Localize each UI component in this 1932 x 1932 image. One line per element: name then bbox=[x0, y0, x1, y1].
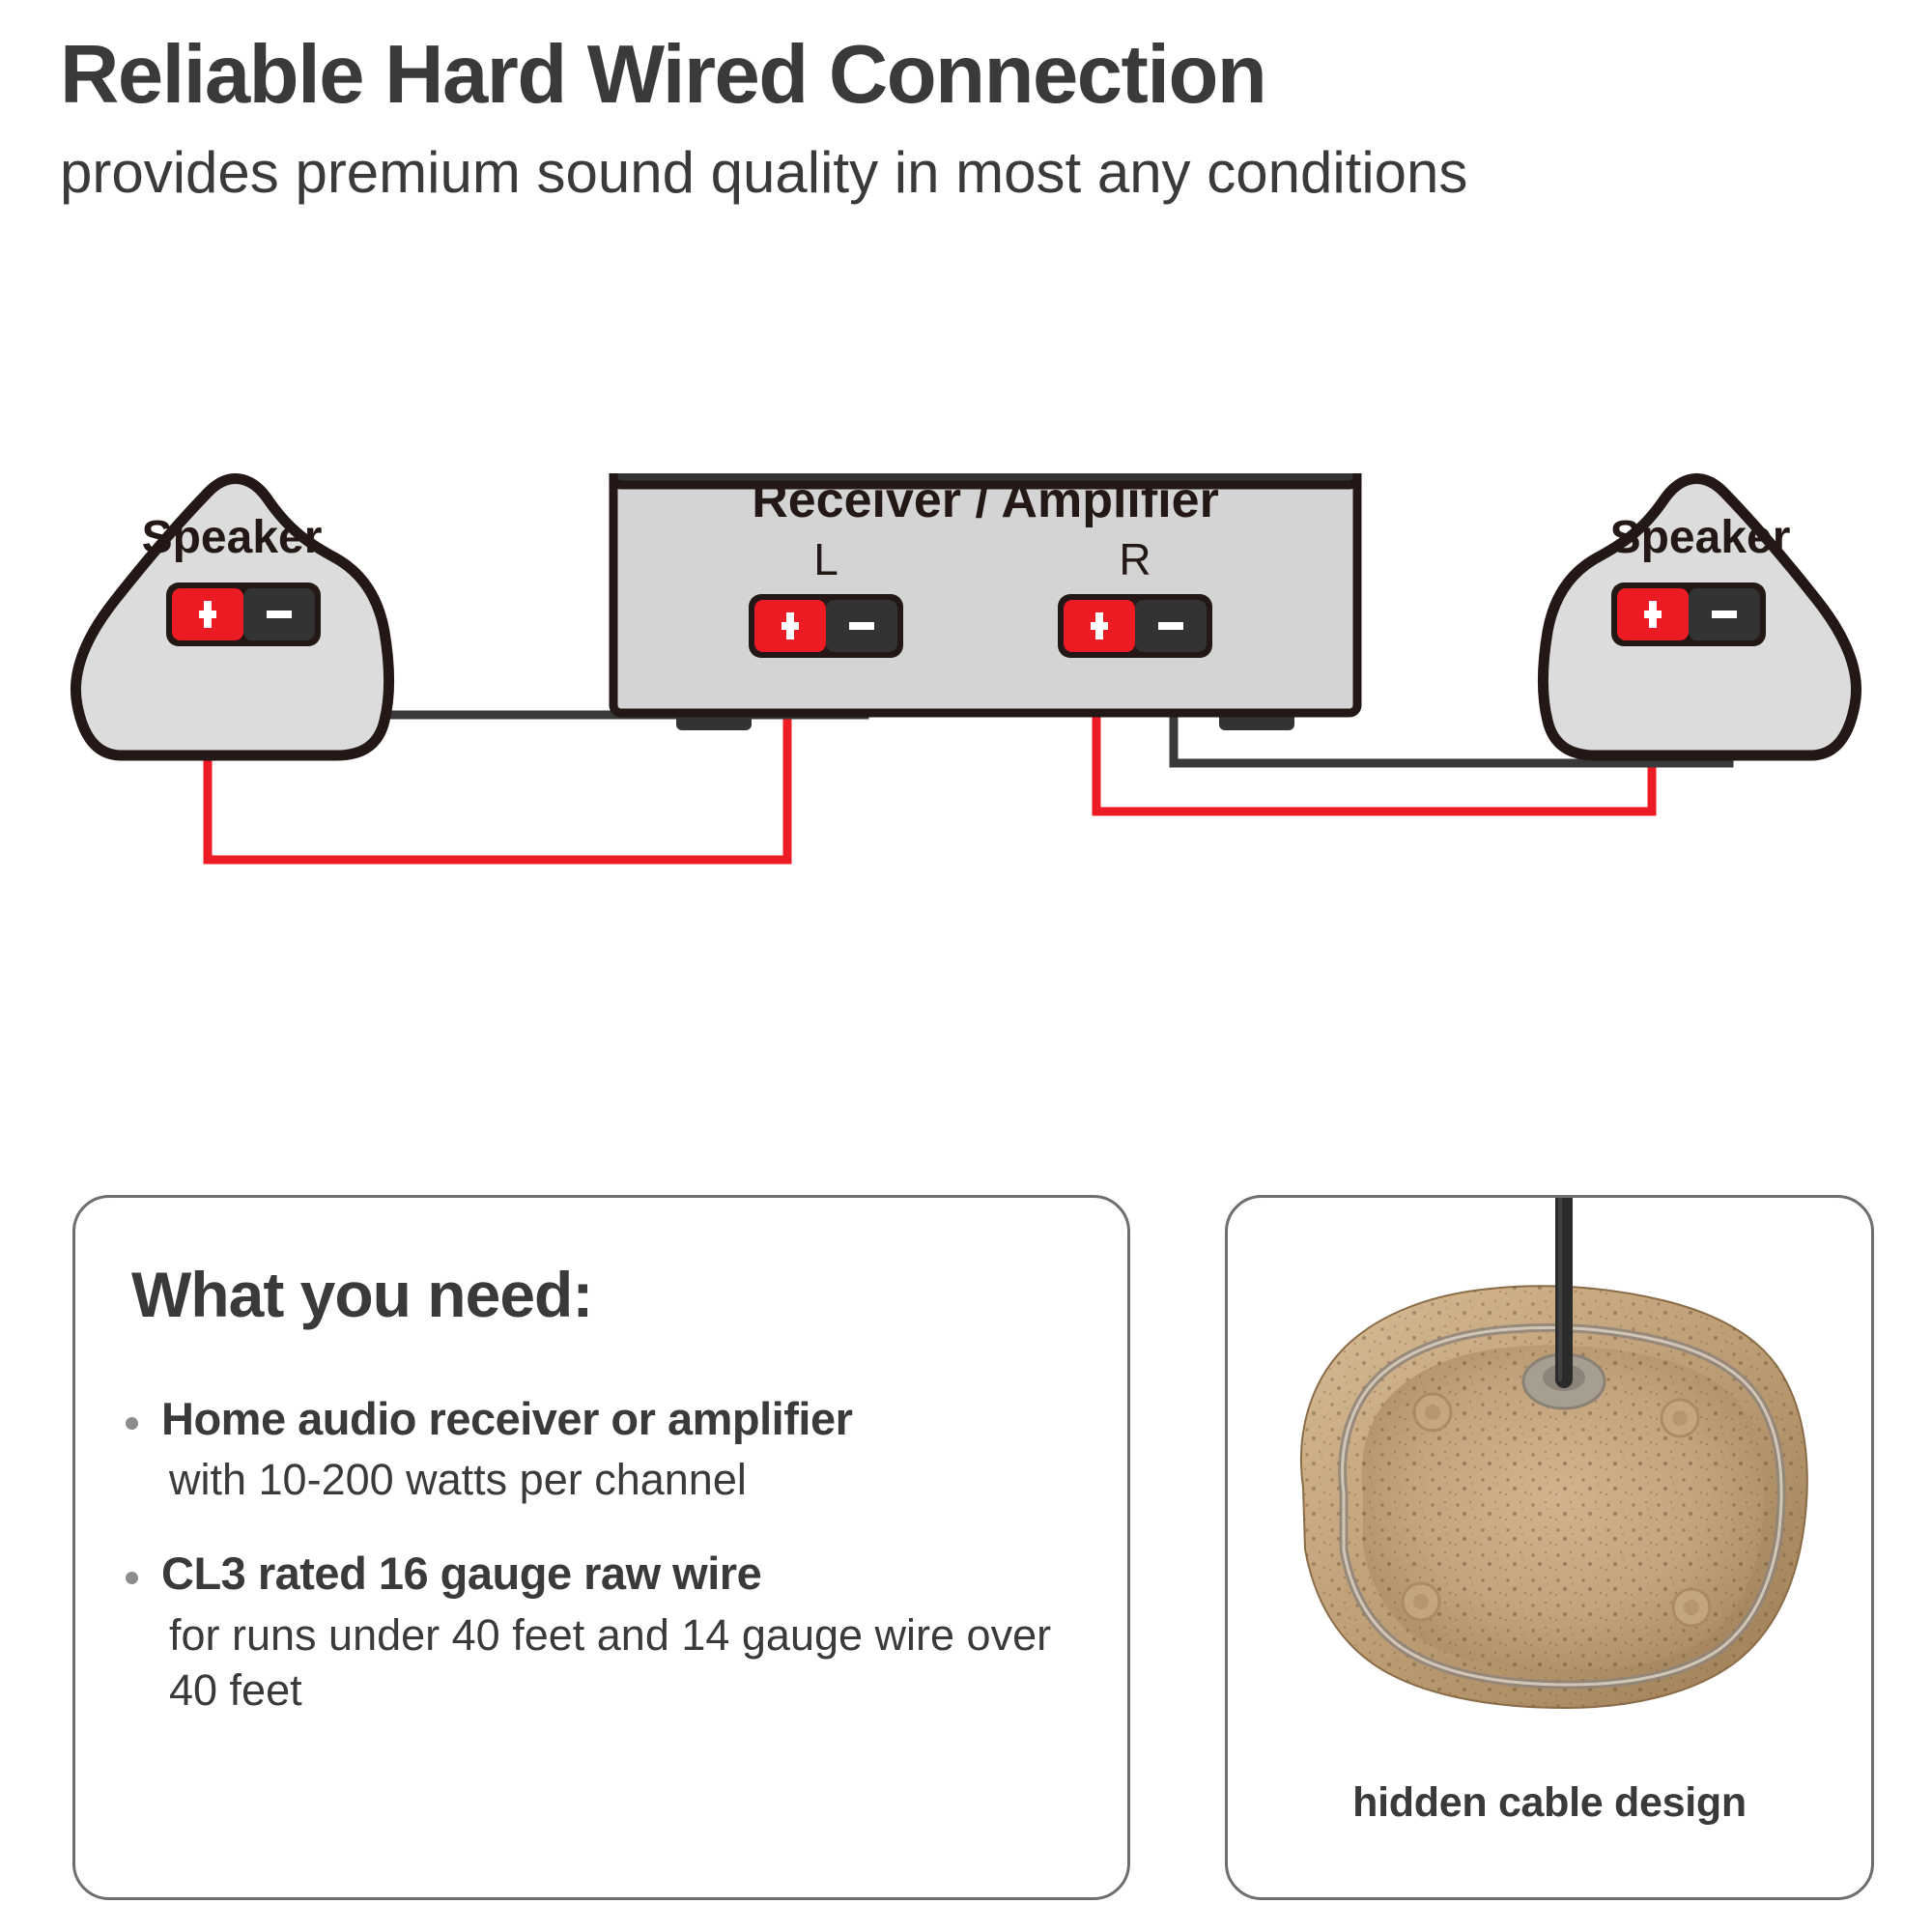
boss-top-right-center bbox=[1672, 1410, 1688, 1426]
list-item-sub: with 10-200 watts per channel bbox=[169, 1452, 1089, 1507]
boss-bottom-left-center bbox=[1413, 1594, 1429, 1609]
infographic-page: Reliable Hard Wired Connection provides … bbox=[0, 0, 1932, 1932]
bottom-cards: What you need: Home audio receiver or am… bbox=[0, 1183, 1932, 1898]
list-item: CL3 rated 16 gauge raw wire for runs und… bbox=[126, 1546, 1089, 1718]
list-item-lead: Home audio receiver or amplifier bbox=[161, 1391, 1089, 1446]
requirements-list: Home audio receiver or amplifier with 10… bbox=[126, 1391, 1089, 1718]
boss-bottom-right-center bbox=[1684, 1600, 1699, 1615]
what-you-need-title: What you need: bbox=[131, 1258, 592, 1331]
list-item: Home audio receiver or amplifier with 10… bbox=[126, 1391, 1089, 1507]
receiver-amplifier: Receiver / Amplifier L R bbox=[613, 473, 1357, 730]
page-subtitle: provides premium sound quality in most a… bbox=[60, 134, 1625, 212]
list-item-text: CL3 rated 16 gauge raw wire for runs und… bbox=[161, 1546, 1089, 1718]
channel-left-label: L bbox=[813, 534, 838, 584]
right-speaker-label: Speaker bbox=[1610, 512, 1791, 563]
r-plus-v bbox=[1095, 612, 1103, 639]
channel-right-label: R bbox=[1119, 534, 1151, 584]
left-speaker-terminals bbox=[166, 582, 321, 646]
list-item-sub: for runs under 40 feet and 14 gauge wire… bbox=[169, 1607, 1089, 1718]
left-minus-bar bbox=[267, 611, 292, 618]
boss-top-left-center bbox=[1425, 1405, 1440, 1420]
left-speaker: Speaker bbox=[75, 479, 388, 755]
left-plus-v bbox=[204, 601, 212, 628]
l-minus-bar bbox=[849, 622, 874, 630]
header: Reliable Hard Wired Connection provides … bbox=[60, 29, 1876, 212]
list-item-lead: CL3 rated 16 gauge raw wire bbox=[161, 1546, 1089, 1601]
what-you-need-card: What you need: Home audio receiver or am… bbox=[72, 1195, 1130, 1900]
receiver-terminals-left bbox=[749, 594, 903, 658]
left-speaker-label: Speaker bbox=[142, 512, 323, 563]
rock-speaker-underside-photo bbox=[1228, 1198, 1871, 1795]
bullet-dot-icon bbox=[126, 1417, 138, 1430]
hidden-cable-card: hidden cable design bbox=[1225, 1195, 1874, 1900]
right-speaker-terminals bbox=[1611, 582, 1766, 646]
right-speaker: Speaker bbox=[1544, 479, 1857, 755]
page-title: Reliable Hard Wired Connection bbox=[60, 29, 1876, 121]
list-item-text: Home audio receiver or amplifier with 10… bbox=[161, 1391, 1089, 1507]
l-plus-v bbox=[786, 612, 794, 639]
bullet-dot-icon bbox=[126, 1572, 138, 1584]
right-minus-bar bbox=[1712, 611, 1737, 618]
receiver-terminals-right bbox=[1058, 594, 1212, 658]
wiring-diagram: Speaker bbox=[0, 473, 1932, 1053]
right-plus-v bbox=[1649, 601, 1657, 628]
receiver-label: Receiver / Amplifier bbox=[752, 473, 1219, 528]
photo-caption: hidden cable design bbox=[1228, 1779, 1871, 1827]
r-minus-bar bbox=[1158, 622, 1183, 630]
